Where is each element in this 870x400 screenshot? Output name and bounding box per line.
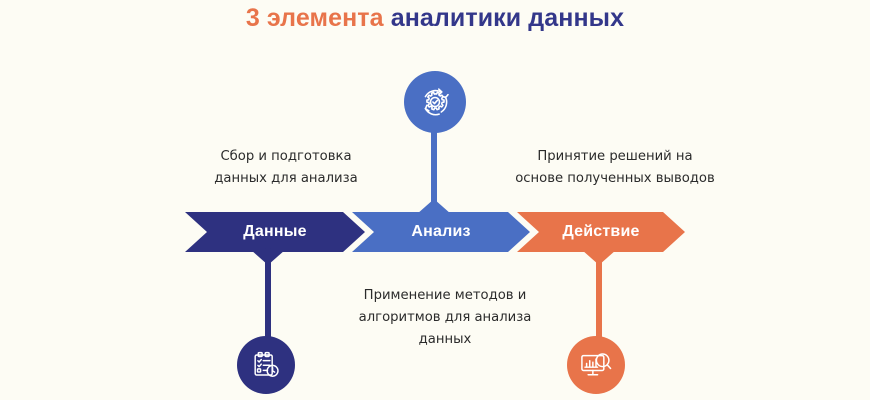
icon-circle-data[interactable]: [237, 336, 295, 394]
stage-label-data: Данные: [243, 223, 306, 241]
title-accent-text: 3 элемента: [246, 4, 384, 32]
stage-chevron-data[interactable]: Данные: [185, 212, 365, 252]
title-main-text: аналитики данных: [391, 4, 624, 32]
icon-circle-action[interactable]: [567, 336, 625, 394]
notch-analysis-top: [417, 199, 451, 214]
gear-check-refresh-icon: [415, 82, 455, 122]
caption-analysis: Применение методов и алгоритмов для анал…: [325, 285, 565, 351]
connector-line-data: [265, 248, 271, 338]
clipboard-checklist-clock-icon: [249, 348, 283, 382]
stage-label-action: Действие: [562, 223, 639, 241]
stage-label-analysis: Анализ: [411, 223, 470, 241]
monitor-chart-magnifier-icon: [578, 347, 614, 383]
page-title: 3 элемента аналитики данных: [0, 4, 870, 33]
caption-action: Принятие решений на основе полученных вы…: [492, 146, 738, 190]
connector-line-action: [596, 248, 602, 338]
stage-chevron-analysis[interactable]: Анализ: [352, 212, 530, 252]
stage-chevron-action[interactable]: Действие: [517, 212, 685, 252]
caption-data: Сбор и подготовка данных для анализа: [178, 146, 394, 190]
infographic-canvas: 3 элемента аналитики данных Сбор и подго…: [0, 0, 870, 400]
